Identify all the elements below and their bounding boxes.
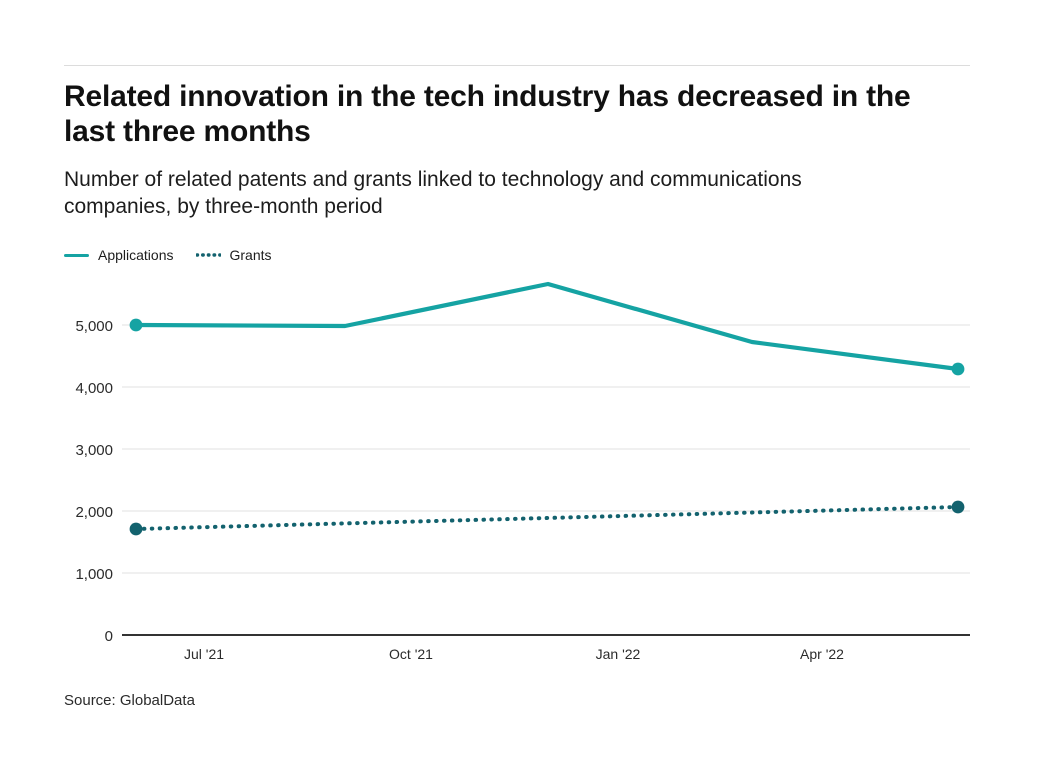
y-axis-tick-labels: 5,000 4,000 3,000 2,000 1,000 0 — [75, 318, 113, 645]
grants-end-marker — [952, 501, 965, 514]
series-grants — [130, 501, 965, 536]
applications-end-marker — [952, 363, 965, 376]
chart-legend: Applications Grants — [64, 244, 272, 266]
y-tick-label-2000: 2,000 — [75, 504, 113, 521]
applications-line — [136, 284, 958, 369]
legend-label-grants: Grants — [230, 247, 272, 263]
chart-figure: Related innovation in the tech industry … — [0, 0, 1038, 778]
series-applications — [130, 284, 965, 375]
y-tick-label-0: 0 — [105, 628, 113, 645]
y-tick-label-3000: 3,000 — [75, 442, 113, 459]
x-tick-label-jul-21: Jul '21 — [184, 646, 224, 662]
chart-subtitle: Number of related patents and grants lin… — [64, 166, 864, 221]
top-divider — [64, 65, 970, 66]
grants-start-marker — [130, 523, 143, 536]
gridlines — [122, 325, 970, 573]
y-tick-label-1000: 1,000 — [75, 566, 113, 583]
chart-title: Related innovation in the tech industry … — [64, 79, 964, 150]
x-tick-label-oct-21: Oct '21 — [389, 646, 433, 662]
legend-item-grants[interactable]: Grants — [196, 247, 272, 263]
x-axis-tick-labels: Jul '21 Oct '21 Jan '22 Apr '22 — [184, 646, 844, 662]
legend-label-applications: Applications — [98, 247, 174, 263]
x-tick-label-jan-22: Jan '22 — [596, 646, 641, 662]
chart-source: Source: GlobalData — [64, 692, 195, 709]
y-tick-label-5000: 5,000 — [75, 318, 113, 335]
legend-dotted-swatch-icon — [196, 253, 221, 257]
legend-line-swatch-icon — [64, 254, 89, 257]
grants-line — [136, 507, 958, 529]
y-tick-label-4000: 4,000 — [75, 380, 113, 397]
legend-item-applications[interactable]: Applications — [64, 247, 174, 263]
applications-start-marker — [130, 319, 143, 332]
x-tick-label-apr-22: Apr '22 — [800, 646, 844, 662]
